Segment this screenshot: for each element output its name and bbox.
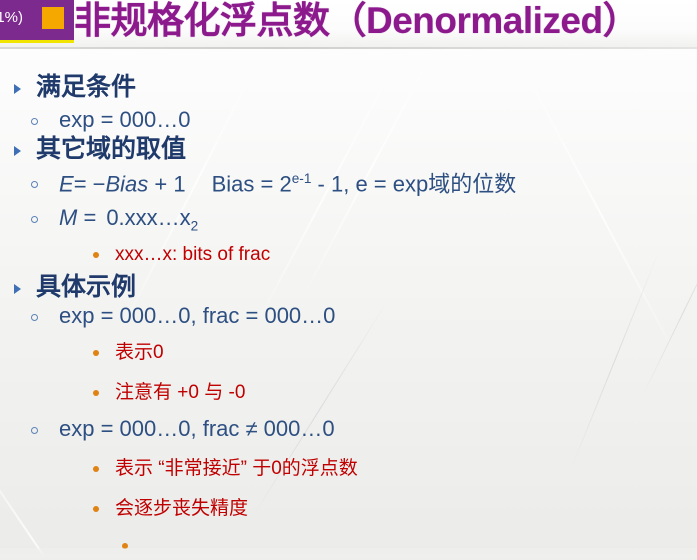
outline-text: 表示0 [115,343,164,362]
equals-minus: = − [74,171,106,196]
zoom-level-overlay[interactable]: 81%) [0,0,74,43]
variable-bias: Bias [106,171,149,196]
bias-note-head: Bias = 2 [212,171,292,196]
dot-bullet-icon [93,350,99,356]
outline-text: 其它域的取值 [36,137,186,162]
formula-expression: M =0.xxx…x2 [59,207,198,233]
bias-note-exponent: e-1 [292,171,312,186]
overlay-square-icon [42,7,64,29]
plus-one: + 1 [154,171,185,196]
triangle-bullet-icon [14,284,21,294]
outline-text: 满足条件 [36,75,136,100]
slide-header: 非规格化浮点数（Denormalized） [0,0,697,49]
dot-bullet-icon [93,252,99,258]
zoom-level-label: 81%) [0,9,23,26]
variable-m: M [59,205,77,230]
circle-bullet-icon [31,216,38,223]
outline-text: 注意有 +0 与 -0 [115,383,245,402]
outline-text: exp = 000…0, frac = 000…0 [59,305,335,327]
outline-text: 具体示例 [36,275,136,300]
circle-bullet-icon [31,427,38,434]
dot-bullet-icon [93,506,99,512]
dot-bullet-icon [93,466,99,472]
slide-body: 满足条件 exp = 000…0 其它域的取值 E= −Bias + 1Bias… [0,49,697,560]
bias-note-tail: - 1, e = exp域的位数 [311,171,516,196]
outline-text: xxx…x: bits of frac [115,245,270,264]
mantissa-value: 0.xxx…x [106,205,190,230]
equals-sign: = [83,205,96,230]
outline-text: exp = 000…0 [59,109,190,131]
variable-e: E [59,171,74,196]
dot-bullet-icon [93,390,99,396]
mantissa-base: 2 [191,218,199,233]
outline-text: 表示 “非常接近” 于0的浮点数 [115,459,358,478]
circle-bullet-icon [31,118,38,125]
circle-bullet-icon [31,181,38,188]
formula-expression: E= −Bias + 1Bias = 2e-1 - 1, e = exp域的位数 [59,172,516,195]
outline-text: exp = 000…0, frac ≠ 000…0 [59,418,335,440]
capture-bottom-clip [0,548,697,560]
outline-text: 会逐步丧失精度 [115,499,248,518]
page-title: 非规格化浮点数（Denormalized） [74,0,639,44]
circle-bullet-icon [31,314,38,321]
presentation-slide: 非规格化浮点数（Denormalized） 81%) 满足条件 exp = 00… [0,0,697,560]
triangle-bullet-icon [14,146,21,156]
triangle-bullet-icon [14,84,21,94]
